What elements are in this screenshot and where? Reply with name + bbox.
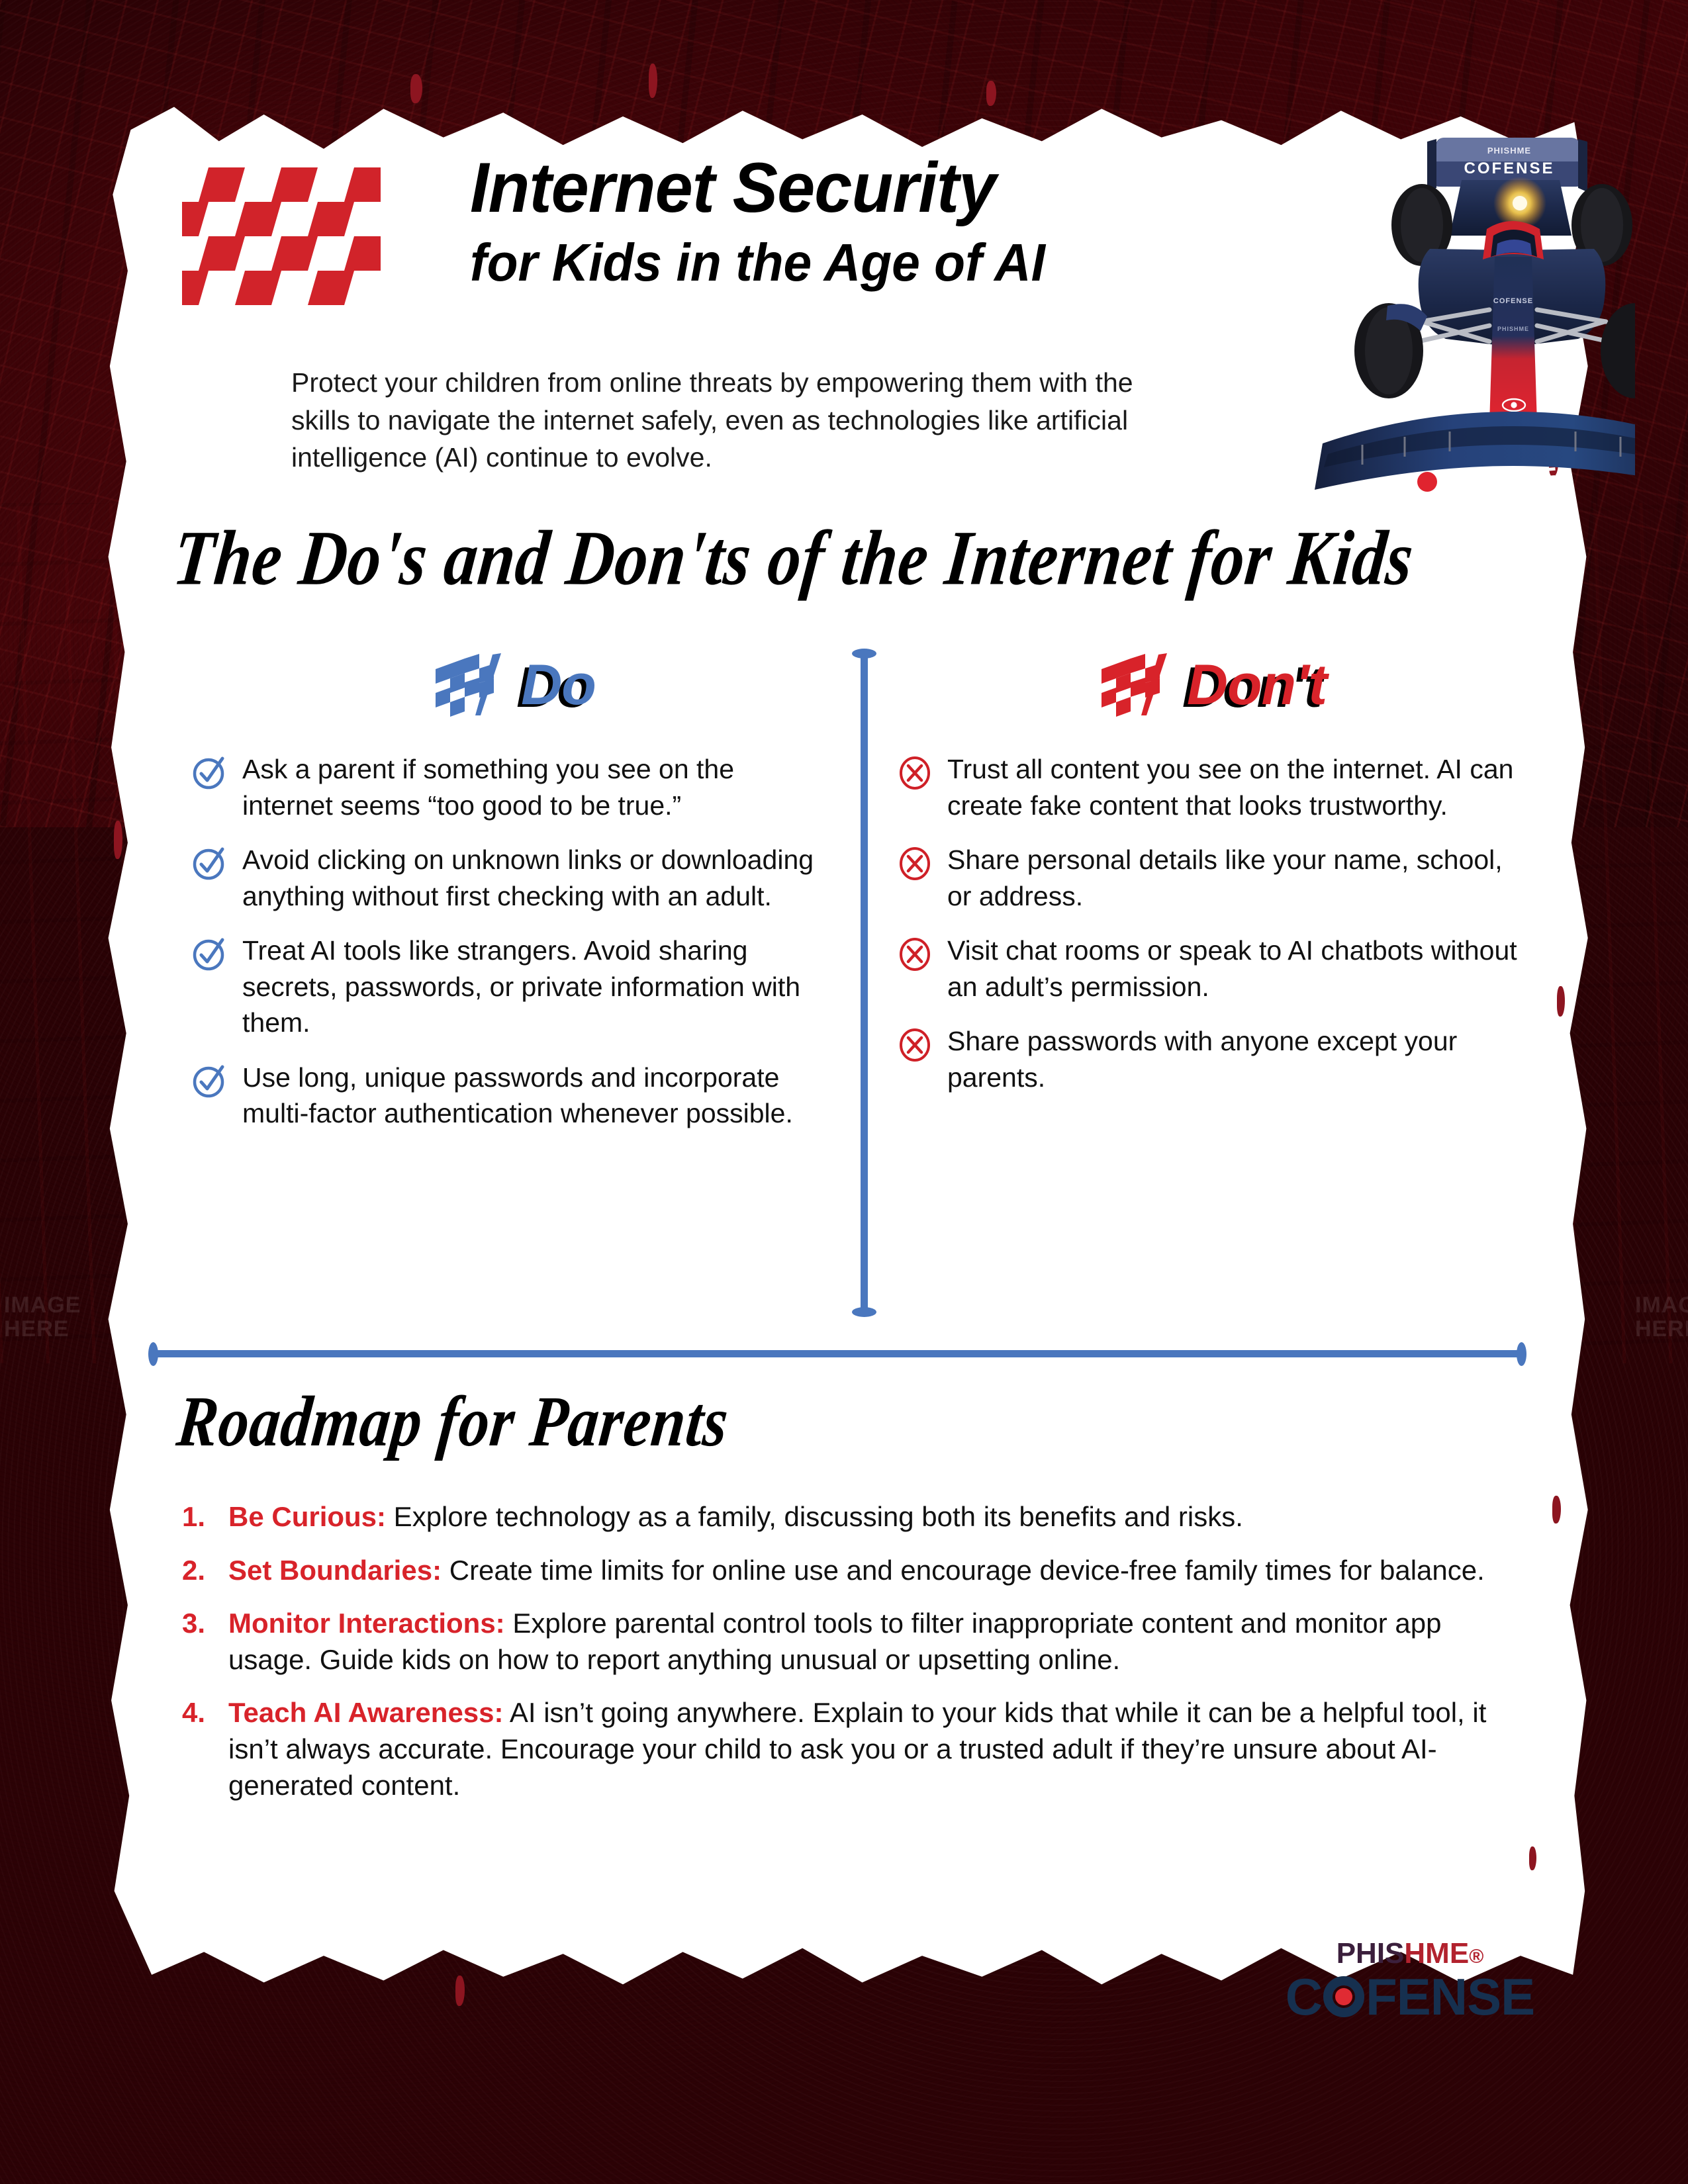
list-item: Share passwords with anyone except your … [897,1023,1519,1095]
ghost-label-left: IMAGE HERE [4,1294,81,1341]
infographic-page: IMAGE HERE IMAGE HERE [0,0,1688,2184]
title-block: Internet Security for Kids in the Age of… [470,152,1238,289]
list-item-text: Ask a parent if something you see on the… [242,751,827,823]
list-item-text: Avoid clicking on unknown links or downl… [242,842,827,914]
list-item: Avoid clicking on unknown links or downl… [192,842,827,914]
splatter-fleck [455,1976,465,2006]
svg-text:COFENSE: COFENSE [1464,159,1554,177]
x-circle-icon [897,1027,933,1063]
roadmap-item: 2.Set Boundaries: Create time limits for… [182,1553,1513,1589]
dont-list: Trust all content you see on the interne… [897,751,1519,1095]
list-item-text: Trust all content you see on the interne… [947,751,1519,823]
roadmap-item-label: Monitor Interactions: [228,1608,505,1639]
roadmap-item-label: Set Boundaries: [228,1555,442,1586]
roadmap-item-number: 1. [182,1499,216,1535]
dont-column-header: Don't [897,645,1519,725]
svg-text:PHISHME: PHISHME [1487,146,1531,156]
ghost-label-right: IMAGE HERE [1635,1294,1688,1341]
check-circle-icon [192,846,228,882]
roadmap-item-number: 2. [182,1553,216,1589]
roadmap-item-label: Teach AI Awareness: [228,1697,504,1728]
do-column: Do Ask a parent if something you see on … [192,645,827,1150]
cofense-wordmark: CFENSE [1278,1971,1542,2023]
list-item: Share personal details like your name, s… [897,842,1519,914]
page-title: Internet Security [470,152,1207,223]
roadmap-item-number: 4. [182,1695,216,1803]
cofense-o-icon [1323,1976,1364,2017]
roadmap-item-number: 3. [182,1606,216,1678]
do-column-header: Do [192,645,827,725]
registered-mark: ® [1469,1946,1483,1968]
roadmap-item-body: Be Curious: Explore technology as a fami… [228,1499,1243,1535]
dont-column: Don't Trust all content you see on the i… [897,645,1519,1114]
list-item: Treat AI tools like strangers. Avoid sha… [192,933,827,1041]
svg-text:PHISHME: PHISHME [1497,326,1529,332]
list-item: Use long, unique passwords and incorpora… [192,1060,827,1132]
roadmap-section-title: Roadmap for Parents [173,1380,733,1463]
list-item-text: Share personal details like your name, s… [947,842,1519,914]
roadmap-item-body: Set Boundaries: Create time limits for o… [228,1553,1485,1589]
roadmap-item-text: Explore technology as a family, discussi… [386,1501,1243,1532]
list-item: Visit chat rooms or speak to AI chatbots… [897,933,1519,1005]
x-circle-icon [897,755,933,791]
roadmap-list: 1.Be Curious: Explore technology as a fa… [182,1499,1513,1821]
list-item-text: Visit chat rooms or speak to AI chatbots… [947,933,1519,1005]
do-list: Ask a parent if something you see on the… [192,751,827,1132]
list-item: Ask a parent if something you see on the… [192,751,827,823]
phishme-part-b: HME [1404,1937,1469,1970]
column-divider [861,652,868,1314]
checkered-flag-blue-icon [424,649,506,721]
check-circle-icon [192,936,228,972]
list-item-text: Treat AI tools like strangers. Avoid sha… [242,933,827,1041]
roadmap-item: 1.Be Curious: Explore technology as a fa… [182,1499,1513,1535]
list-item: Trust all content you see on the interne… [897,751,1519,823]
checkered-flag-red-icon [1090,649,1172,721]
list-item-text: Share passwords with anyone except your … [947,1023,1519,1095]
phishme-part-a: PHIS [1336,1937,1405,1970]
roadmap-item: 4.Teach AI Awareness: AI isn’t going any… [182,1695,1513,1803]
list-item-text: Use long, unique passwords and incorpora… [242,1060,827,1132]
check-circle-icon [192,1064,228,1099]
phishme-wordmark: PHISHME® [1278,1939,1542,1968]
dos-donts-section-title: The Do's and Don'ts of the Internet for … [169,513,1418,603]
intro-paragraph: Protect your children from online threat… [291,364,1172,477]
dont-label: Don't [1187,657,1327,713]
x-circle-icon [897,936,933,972]
page-subtitle: for Kids in the Age of AI [470,236,1207,289]
roadmap-item-label: Be Curious: [228,1501,386,1532]
check-circle-icon [192,755,228,791]
roadmap-item-body: Monitor Interactions: Explore parental c… [228,1606,1513,1678]
roadmap-item: 3.Monitor Interactions: Explore parental… [182,1606,1513,1678]
roadmap-item-text: Create time limits for online use and en… [442,1555,1485,1586]
checkered-hash-icon [182,156,381,311]
section-divider [152,1350,1523,1357]
header: Internet Security for Kids in the Age of… [99,99,1595,563]
cofense-part-post: FENSE [1366,1971,1534,2023]
svg-text:COFENSE: COFENSE [1493,297,1533,305]
x-circle-icon [897,846,933,882]
do-label: Do [521,657,596,713]
roadmap-item-body: Teach AI Awareness: AI isn’t going anywh… [228,1695,1513,1803]
cofense-logo: PHISHME® CFENSE [1278,1939,1542,2023]
cofense-part-pre: C [1286,1971,1322,2023]
